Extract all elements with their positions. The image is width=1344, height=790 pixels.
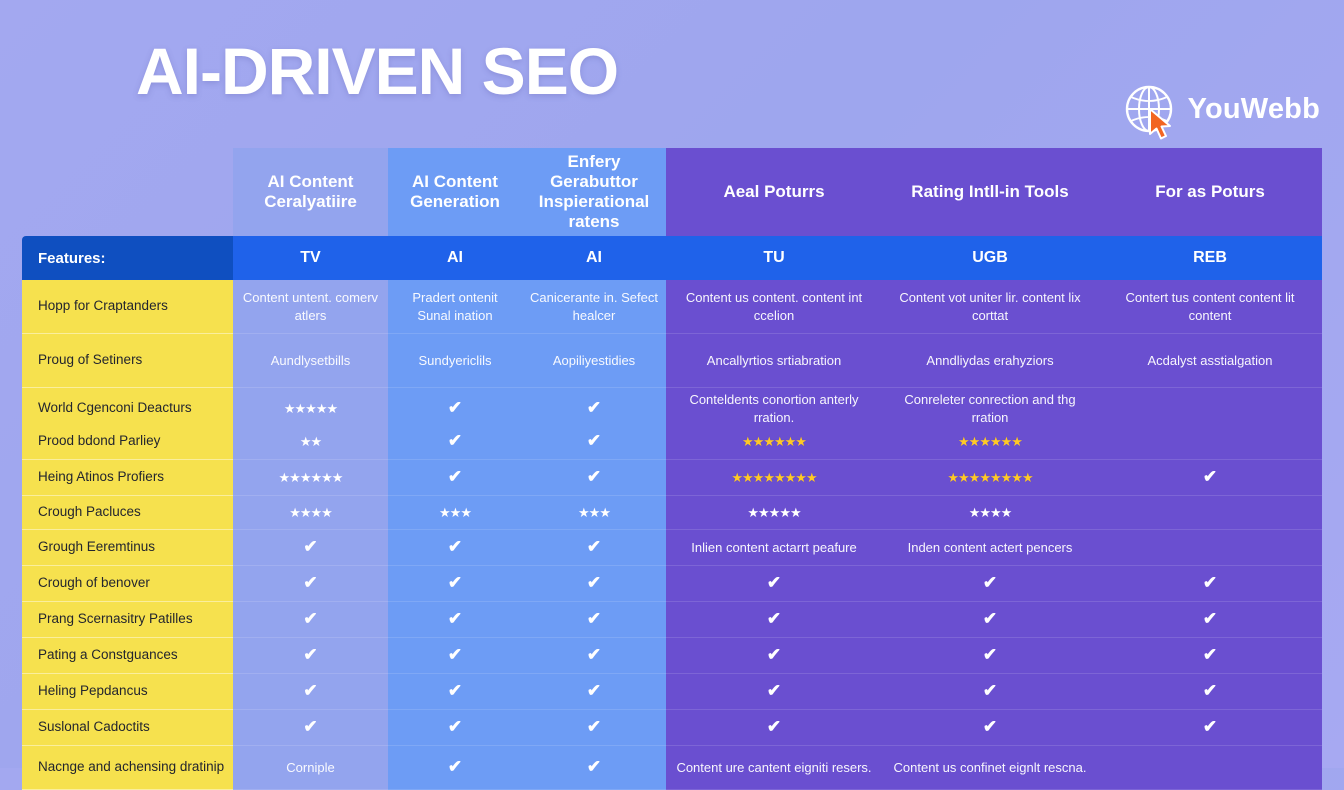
cell-text: Ancallyrtios srtiabration	[666, 334, 882, 388]
check-glyph: ✔	[448, 572, 462, 595]
feature-label: Crough of benover	[22, 566, 233, 602]
check-glyph: ✔	[587, 536, 601, 559]
sub-header-1: TV	[233, 236, 388, 280]
group-header-spacer	[22, 148, 233, 236]
cell-text: Contert tus content content lit content	[1098, 280, 1322, 334]
check-icon: ✔	[1098, 602, 1322, 638]
check-glyph: ✔	[1203, 466, 1217, 489]
cell-text-value: Conreleter conrection and thg rration	[890, 391, 1090, 426]
check-icon: ✔	[233, 602, 388, 638]
empty-cell	[1098, 746, 1322, 790]
check-glyph: ✔	[983, 608, 997, 631]
check-glyph: ✔	[983, 644, 997, 667]
check-icon: ✔	[1098, 460, 1322, 496]
table-sub-header-row: Features:TVAIAITUUGBREB	[22, 236, 1322, 280]
table-row: Crough of benover✔✔✔✔✔✔	[22, 566, 1322, 602]
check-glyph: ✔	[587, 644, 601, 667]
cell-text-value: Inlien content actarrt peafure	[691, 539, 857, 557]
check-icon: ✔	[666, 602, 882, 638]
check-glyph: ✔	[1203, 644, 1217, 667]
table-body: Hopp for CraptandersContent untent. come…	[22, 280, 1322, 790]
cell-text-value: Pradert ontenit Sunal ination	[396, 289, 514, 324]
feature-label: Heing Atinos Profiers	[22, 460, 233, 496]
check-glyph: ✔	[587, 680, 601, 703]
check-glyph: ✔	[587, 572, 601, 595]
globe-icon	[1122, 82, 1176, 136]
group-header-3[interactable]: Enfery Gerabuttor Inspierational ratens	[522, 148, 666, 236]
group-header-5[interactable]: Rating Intll-in Tools	[882, 148, 1098, 236]
check-icon: ✔	[233, 710, 388, 746]
feature-label: Prood bdond Parliey	[22, 424, 233, 460]
group-header-2[interactable]: AI Content Generation	[388, 148, 522, 236]
feature-label: Crough Pacluces	[22, 496, 233, 530]
cell-text-value: Content us confinet eignlt rescna.	[894, 759, 1087, 777]
check-icon: ✔	[882, 566, 1098, 602]
check-glyph: ✔	[448, 644, 462, 667]
check-glyph: ✔	[303, 536, 317, 559]
star-icon-group: ★★★★★	[284, 400, 337, 418]
check-glyph: ✔	[448, 430, 462, 453]
feature-label: Prang Scernasitry Patilles	[22, 602, 233, 638]
cell-text: Content untent. comerv atlers	[233, 280, 388, 334]
cell-text-value: Content us content. content int ccelion	[674, 289, 874, 324]
empty-cell	[1098, 424, 1322, 460]
cell-text: Content us content. content int ccelion	[666, 280, 882, 334]
check-glyph: ✔	[587, 716, 601, 739]
check-icon: ✔	[233, 566, 388, 602]
check-icon: ✔	[882, 710, 1098, 746]
check-glyph: ✔	[448, 680, 462, 703]
check-glyph: ✔	[587, 466, 601, 489]
check-glyph: ✔	[448, 536, 462, 559]
cell-text: Acdalyst asstialgation	[1098, 334, 1322, 388]
check-icon: ✔	[388, 638, 522, 674]
star-rating: ★★★★★★	[882, 424, 1098, 460]
check-icon: ✔	[522, 530, 666, 566]
cell-text: Corniple	[233, 746, 388, 790]
feature-label: Heling Pepdancus	[22, 674, 233, 710]
group-header-4[interactable]: Aeal Poturrs	[666, 148, 882, 236]
check-glyph: ✔	[767, 644, 781, 667]
cell-text: Anndliydas erahyziors	[882, 334, 1098, 388]
check-icon: ✔	[882, 674, 1098, 710]
check-glyph: ✔	[303, 572, 317, 595]
cell-text: Content vot uniter lir. content lix cort…	[882, 280, 1098, 334]
group-header-6[interactable]: For as Poturs	[1098, 148, 1322, 236]
check-icon: ✔	[233, 530, 388, 566]
star-rating: ★★★★★	[666, 496, 882, 530]
cell-text-value: Conteldents conortion anterly rration.	[674, 391, 874, 426]
feature-label: Pating a Constguances	[22, 638, 233, 674]
check-icon: ✔	[666, 674, 882, 710]
check-icon: ✔	[388, 460, 522, 496]
check-icon: ✔	[388, 674, 522, 710]
star-icon-group: ★★★★	[289, 504, 332, 522]
table-row: Prang Scernasitry Patilles✔✔✔✔✔✔	[22, 602, 1322, 638]
table-row: Suslonal Cadoctits✔✔✔✔✔✔	[22, 710, 1322, 746]
check-glyph: ✔	[767, 680, 781, 703]
cell-text-value: Content vot uniter lir. content lix cort…	[890, 289, 1090, 324]
brand-logo[interactable]: YouWebb	[1122, 82, 1320, 136]
check-glyph: ✔	[303, 608, 317, 631]
check-glyph: ✔	[303, 644, 317, 667]
comparison-table: AI Content CeralyatiireAI Content Genera…	[22, 148, 1322, 748]
check-icon: ✔	[882, 638, 1098, 674]
check-icon: ✔	[388, 710, 522, 746]
star-rating: ★★★★	[233, 496, 388, 530]
table-row: Crough Pacluces★★★★★★★★★★★★★★★★★★★	[22, 496, 1322, 530]
features-column-header: Features:	[22, 236, 233, 280]
check-icon: ✔	[1098, 566, 1322, 602]
star-rating: ★★★★	[882, 496, 1098, 530]
page-header: AI-DRIVEN SEO YouWebb	[0, 0, 1344, 150]
cell-text: Content ure cantent eigniti resers.	[666, 746, 882, 790]
cell-text: Content us confinet eignlt rescna.	[882, 746, 1098, 790]
check-glyph: ✔	[303, 680, 317, 703]
group-header-1[interactable]: AI Content Ceralyatiire	[233, 148, 388, 236]
check-icon: ✔	[233, 638, 388, 674]
sub-header-2: AI	[388, 236, 522, 280]
cell-text: Inlien content actarrt peafure	[666, 530, 882, 566]
table-row: Hopp for CraptandersContent untent. come…	[22, 280, 1322, 334]
star-icon-group: ★★★★★★★★	[731, 469, 816, 487]
cell-text-value: Content untent. comerv atlers	[241, 289, 380, 324]
empty-cell	[1098, 496, 1322, 530]
star-rating: ★★★	[522, 496, 666, 530]
check-icon: ✔	[522, 638, 666, 674]
check-glyph: ✔	[767, 572, 781, 595]
cell-text-value: Contert tus content content lit content	[1106, 289, 1314, 324]
table-row: Pating a Constguances✔✔✔✔✔✔	[22, 638, 1322, 674]
star-rating: ★★★★★★	[233, 460, 388, 496]
check-icon: ✔	[666, 566, 882, 602]
check-icon: ✔	[666, 710, 882, 746]
check-icon: ✔	[1098, 710, 1322, 746]
cell-text-value: Canicerante in. Sefect healcer	[530, 289, 658, 324]
cell-text-value: Content ure cantent eigniti resers.	[676, 759, 871, 777]
check-icon: ✔	[522, 566, 666, 602]
cell-text: Aundlysetbills	[233, 334, 388, 388]
sub-header-6: REB	[1098, 236, 1322, 280]
star-rating: ★★★★★★★★	[666, 460, 882, 496]
check-glyph: ✔	[767, 608, 781, 631]
check-glyph: ✔	[587, 397, 601, 420]
cell-text-value: Inden content actert pencers	[908, 539, 1073, 557]
cell-text-value: Anndliydas erahyziors	[926, 352, 1053, 370]
check-glyph: ✔	[983, 716, 997, 739]
table-row: Nacnge and achensing dratinipCorniple✔✔C…	[22, 746, 1322, 790]
table-group-header-row: AI Content CeralyatiireAI Content Genera…	[22, 148, 1322, 236]
star-icon-group: ★★★	[578, 504, 610, 522]
check-glyph: ✔	[1203, 716, 1217, 739]
star-icon-group: ★★★★★★	[958, 433, 1022, 451]
check-icon: ✔	[388, 530, 522, 566]
sub-header-4: TU	[666, 236, 882, 280]
brand-name: YouWebb	[1188, 93, 1320, 126]
check-icon: ✔	[522, 424, 666, 460]
check-icon: ✔	[522, 602, 666, 638]
table-row: Grough Eeremtinus✔✔✔Inlien content actar…	[22, 530, 1322, 566]
page-title: AI-DRIVEN SEO	[136, 38, 618, 104]
empty-cell	[1098, 530, 1322, 566]
check-icon: ✔	[522, 460, 666, 496]
sub-header-5: UGB	[882, 236, 1098, 280]
star-icon-group: ★★★	[439, 504, 471, 522]
sub-header-3: AI	[522, 236, 666, 280]
table-row: Heling Pepdancus✔✔✔✔✔✔	[22, 674, 1322, 710]
check-glyph: ✔	[448, 608, 462, 631]
check-icon: ✔	[1098, 674, 1322, 710]
check-glyph: ✔	[448, 466, 462, 489]
star-icon-group: ★★★★★★★★	[947, 469, 1032, 487]
check-icon: ✔	[522, 710, 666, 746]
check-glyph: ✔	[587, 608, 601, 631]
check-glyph: ✔	[1203, 572, 1217, 595]
cell-text: Aopiliyestidies	[522, 334, 666, 388]
cell-text: Sundyericlils	[388, 334, 522, 388]
cell-text: Conteldents conortion anterly rration.	[666, 388, 882, 430]
star-rating: ★★★	[388, 496, 522, 530]
feature-label: Nacnge and achensing dratinip	[22, 746, 233, 790]
check-icon: ✔	[522, 746, 666, 790]
star-icon-group: ★★	[300, 433, 321, 451]
cell-text: Inden content actert pencers	[882, 530, 1098, 566]
star-icon-group: ★★★★★★	[742, 433, 806, 451]
cell-text: Canicerante in. Sefect healcer	[522, 280, 666, 334]
cell-text-value: Aopiliyestidies	[553, 352, 635, 370]
cell-text-value: Aundlysetbills	[271, 352, 351, 370]
check-icon: ✔	[388, 602, 522, 638]
check-glyph: ✔	[448, 716, 462, 739]
check-glyph: ✔	[983, 680, 997, 703]
star-icon-group: ★★★★★	[747, 504, 800, 522]
check-glyph: ✔	[1203, 608, 1217, 631]
star-rating: ★★★★★★	[666, 424, 882, 460]
check-glyph: ✔	[983, 572, 997, 595]
cell-text-value: Sundyericlils	[419, 352, 492, 370]
check-glyph: ✔	[587, 430, 601, 453]
table-row: Proug of SetinersAundlysetbillsSundyeric…	[22, 334, 1322, 388]
cell-text: Conreleter conrection and thg rration	[882, 388, 1098, 430]
check-icon: ✔	[388, 424, 522, 460]
star-icon-group: ★★★★★★	[279, 469, 343, 487]
check-glyph: ✔	[1203, 680, 1217, 703]
check-glyph: ✔	[448, 397, 462, 420]
feature-label: Proug of Setiners	[22, 334, 233, 388]
star-icon-group: ★★★★	[969, 504, 1012, 522]
table-row: Prood bdond Parliey★★✔✔★★★★★★★★★★★★	[22, 424, 1322, 460]
check-icon: ✔	[522, 674, 666, 710]
check-icon: ✔	[388, 566, 522, 602]
table-row: World Cgenconi Deacturs★★★★★✔✔Conteldent…	[22, 388, 1322, 424]
check-icon: ✔	[666, 638, 882, 674]
feature-label: Grough Eeremtinus	[22, 530, 233, 566]
check-icon: ✔	[1098, 638, 1322, 674]
check-icon: ✔	[882, 602, 1098, 638]
check-icon: ✔	[233, 674, 388, 710]
feature-label: Suslonal Cadoctits	[22, 710, 233, 746]
feature-label: Hopp for Craptanders	[22, 280, 233, 334]
table-row: Heing Atinos Profiers★★★★★★✔✔★★★★★★★★★★★…	[22, 460, 1322, 496]
star-rating: ★★★★★★★★	[882, 460, 1098, 496]
cell-text-value: Corniple	[286, 759, 334, 777]
star-rating: ★★	[233, 424, 388, 460]
cell-text-value: Acdalyst asstialgation	[1147, 352, 1272, 370]
cell-text: Pradert ontenit Sunal ination	[388, 280, 522, 334]
check-glyph: ✔	[303, 716, 317, 739]
check-glyph: ✔	[767, 716, 781, 739]
check-icon: ✔	[388, 746, 522, 790]
cell-text-value: Ancallyrtios srtiabration	[707, 352, 841, 370]
cursor-arrow-icon	[1148, 108, 1178, 140]
